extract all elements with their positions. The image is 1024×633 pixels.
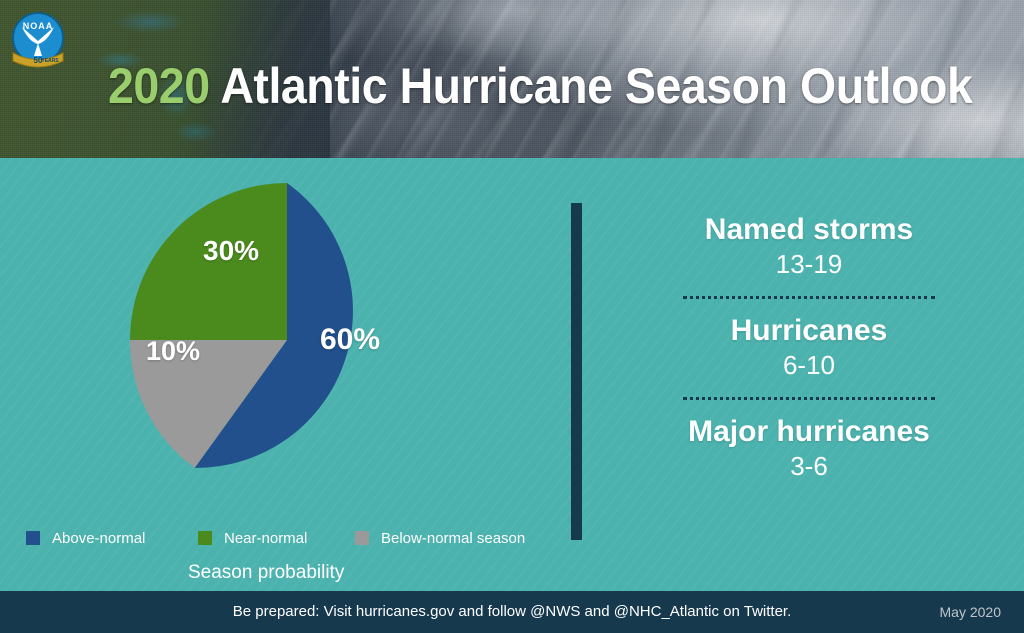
pie-label-below-normal: 10% (146, 336, 200, 367)
legend-swatch-below-normal (355, 531, 369, 545)
svg-text:NOAA: NOAA (23, 21, 54, 31)
footer-date: May 2020 (940, 591, 1001, 633)
legend-item-below-normal: Below-normal season (355, 527, 525, 549)
stat-label-hurricanes: Hurricanes (625, 313, 993, 349)
stat-block-named-storms: Named storms 13-19 (625, 212, 993, 280)
legend-item-above-normal: Above-normal (26, 527, 145, 549)
page-title: 2020 Atlantic Hurricane Season Outlook (108, 55, 972, 117)
stat-divider-1 (683, 296, 935, 299)
stat-block-major-hurricanes: Major hurricanes 3-6 (625, 414, 993, 482)
title-text: Atlantic Hurricane Season Outlook (210, 58, 973, 114)
svg-text:YEARS: YEARS (41, 58, 59, 64)
forecast-stats-panel: Named storms 13-19 Hurricanes 6-10 Major… (625, 212, 993, 482)
chart-legend: Above-normal Near-normal Below-normal se… (26, 527, 556, 549)
legend-label-below-normal: Below-normal season (381, 530, 525, 547)
chart-caption: Season probability (188, 562, 344, 584)
noaa-logo-icon: NOAA 50 YEARS (9, 11, 67, 71)
season-probability-pie-chart: 60% 30% 10% (130, 183, 444, 497)
footer-message: Be prepared: Visit hurricanes.gov and fo… (0, 591, 1024, 633)
legend-label-above-normal: Above-normal (52, 530, 145, 547)
legend-swatch-near-normal (198, 531, 212, 545)
noaa-logo: NOAA 50 YEARS (9, 11, 67, 71)
stat-label-named-storms: Named storms (625, 212, 993, 248)
stat-value-hurricanes: 6-10 (625, 349, 993, 381)
stat-block-hurricanes: Hurricanes 6-10 (625, 313, 993, 381)
title-year: 2020 (108, 58, 210, 114)
stat-value-named-storms: 13-19 (625, 248, 993, 280)
vertical-divider (571, 203, 582, 540)
legend-swatch-above-normal (26, 531, 40, 545)
hurricane-outlook-infographic: NOAA 50 YEARS 2020 Atlantic Hurricane Se… (0, 0, 1024, 633)
stat-divider-2 (683, 397, 935, 400)
header-banner: NOAA 50 YEARS 2020 Atlantic Hurricane Se… (0, 0, 1024, 158)
pie-label-above-normal: 60% (320, 323, 380, 357)
legend-item-near-normal: Near-normal (198, 527, 307, 549)
stat-label-major-hurricanes: Major hurricanes (625, 414, 993, 450)
pie-label-near-normal: 30% (203, 235, 259, 267)
footer-bar: Be prepared: Visit hurricanes.gov and fo… (0, 591, 1024, 633)
legend-label-near-normal: Near-normal (224, 530, 307, 547)
main-content-area: 60% 30% 10% Above-normal Near-normal Bel… (0, 158, 1024, 591)
stat-value-major-hurricanes: 3-6 (625, 450, 993, 482)
